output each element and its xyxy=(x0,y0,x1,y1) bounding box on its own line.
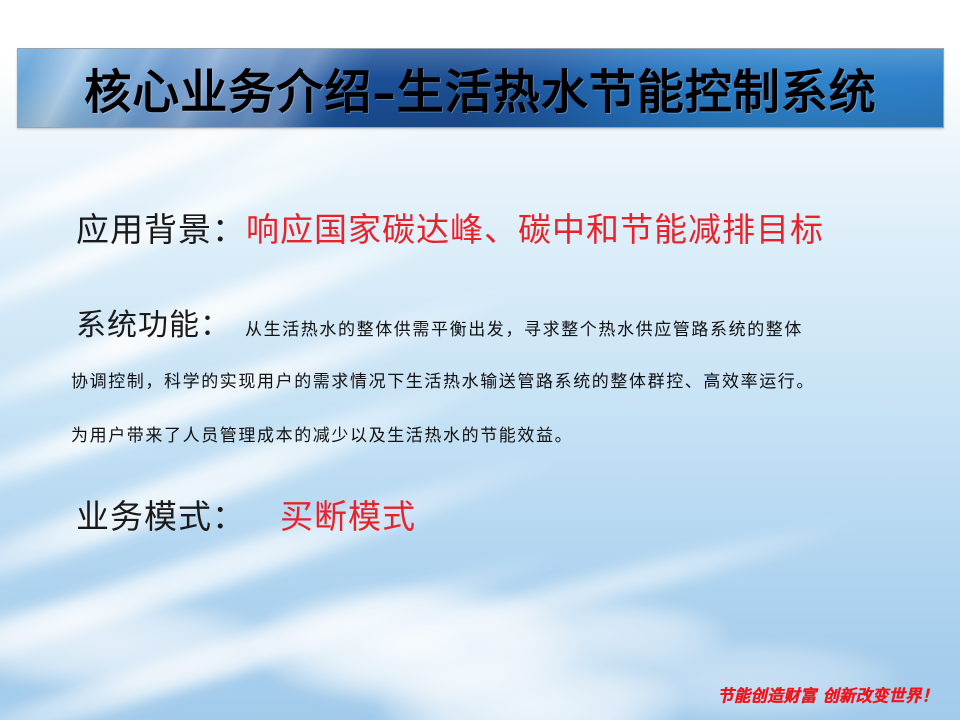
business-mode-value: 买断模式 xyxy=(246,497,416,536)
slide-content: 应用背景：响应国家碳达峰、碳中和节能减排目标 系统功能：从生活热水的整体供需平衡… xyxy=(0,0,960,720)
application-background-label: 应用背景： xyxy=(76,210,246,249)
section-application-background: 应用背景：响应国家碳达峰、碳中和节能减排目标 xyxy=(76,203,824,251)
section-business-mode: 业务模式：买断模式 xyxy=(76,490,416,538)
footer-slogan: 节能创造财富 创新改变世界！ xyxy=(717,681,938,706)
system-function-line-2: 协调控制，科学的实现用户的需求情况下生活热水输送管路系统的整体群控、高效率运行。 xyxy=(71,367,815,392)
section-system-function: 系统功能：从生活热水的整体供需平衡出发，寻求整个热水供应管路系统的整体 xyxy=(76,300,803,344)
system-function-label: 系统功能： xyxy=(76,308,231,343)
business-mode-label: 业务模式： xyxy=(76,497,246,536)
system-function-line-1: 从生活热水的整体供需平衡出发，寻求整个热水供应管路系统的整体 xyxy=(231,320,803,340)
system-function-line-3: 为用户带来了人员管理成本的减少以及生活热水的节能效益。 xyxy=(71,421,573,446)
slide-canvas: 核心业务介绍–生活热水节能控制系统 应用背景：响应国家碳达峰、碳中和节能减排目标… xyxy=(0,0,960,720)
application-background-value: 响应国家碳达峰、碳中和节能减排目标 xyxy=(246,210,824,249)
